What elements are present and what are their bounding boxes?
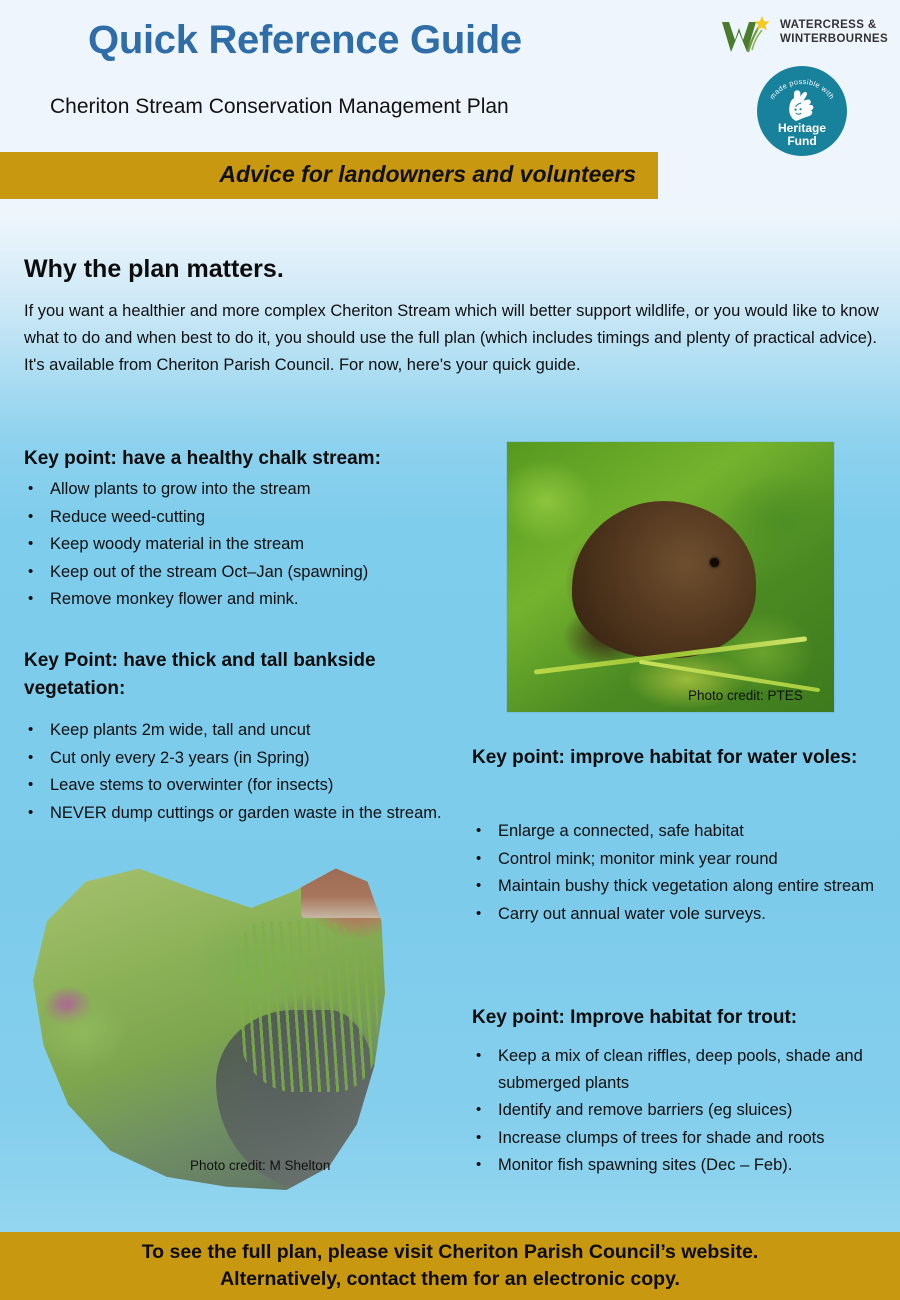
list-item: Remove monkey flower and mink. [24,586,474,613]
section-bullets-water-voles: Enlarge a connected, safe habitat Contro… [472,818,884,928]
section-bullets-trout: Keep a mix of clean riffles, deep pools,… [472,1043,884,1180]
section-heading-bankside-vegetation: Key Point: have thick and tall bankside … [24,647,444,703]
watercress-winterbournes-wordmark: WATERCRESS & WINTERBOURNES [780,18,888,46]
page-title: Quick Reference Guide [88,18,522,63]
section-bullets-healthy-chalk-stream: Allow plants to grow into the stream Red… [24,476,474,614]
wcw-line-2: WINTERBOURNES [780,32,888,46]
stream-photo [33,862,385,1190]
wcw-line-1: WATERCRESS & [780,18,888,32]
footer-line-1: To see the full plan, please visit Cheri… [142,1239,759,1266]
water-vole-eye [710,558,719,567]
page-footer: To see the full plan, please visit Cheri… [0,1232,900,1300]
heritage-fund-wordmark: Heritage Fund [757,122,847,148]
list-item: Maintain bushy thick vegetation along en… [472,873,884,900]
heritage-fund-line-2: Fund [757,135,847,148]
list-item: Keep out of the stream Oct–Jan (spawning… [24,559,474,586]
photo-credit-stream: Photo credit: M Shelton [190,1158,330,1173]
heritage-fund-logo: made possible with Heritage Fund [757,66,847,156]
list-item: NEVER dump cuttings or garden waste in t… [24,800,464,827]
page-subtitle: Cheriton Stream Conservation Management … [50,95,509,119]
section-heading-healthy-chalk-stream: Key point: have a healthy chalk stream: [24,445,464,473]
section-bullets-bankside-vegetation: Keep plants 2m wide, tall and uncut Cut … [24,717,464,827]
list-item: Identify and remove barriers (eg sluices… [472,1097,884,1124]
footer-line-2: Alternatively, contact them for an elect… [220,1266,680,1293]
crossed-fingers-hand-icon [786,88,818,122]
list-item: Increase clumps of trees for shade and r… [472,1125,884,1152]
list-item: Control mink; monitor mink year round [472,846,884,873]
water-vole-subject [572,501,755,658]
list-item: Keep woody material in the stream [24,531,474,558]
intro-heading: Why the plan matters. [24,255,284,284]
section-heading-water-voles: Key point: improve habitat for water vol… [472,744,872,772]
letter-w-flower-icon [718,12,778,58]
bankside-reeds [237,921,378,1092]
list-item: Leave stems to overwinter (for insects) [24,772,464,799]
list-item: Keep a mix of clean riffles, deep pools,… [472,1043,884,1096]
list-item: Enlarge a connected, safe habitat [472,818,884,845]
list-item: Reduce weed-cutting [24,504,474,531]
watercress-winterbournes-logo: WATERCRESS & WINTERBOURNES [718,12,890,60]
quick-reference-guide-page: Quick Reference Guide Cheriton Stream Co… [0,0,900,1300]
list-item: Carry out annual water vole surveys. [472,901,884,928]
water-vole-photo [507,442,834,712]
intro-paragraph: If you want a healthier and more complex… [24,298,880,379]
list-item: Keep plants 2m wide, tall and uncut [24,717,464,744]
photo-credit-water-vole: Photo credit: PTES [688,688,803,703]
background-house [301,865,385,917]
advice-banner: Advice for landowners and volunteers [0,152,658,199]
list-item: Cut only every 2-3 years (in Spring) [24,745,464,772]
list-item: Allow plants to grow into the stream [24,476,474,503]
list-item: Monitor fish spawning sites (Dec – Feb). [472,1152,884,1179]
page-header: Quick Reference Guide Cheriton Stream Co… [0,0,900,205]
advice-banner-text: Advice for landowners and volunteers [0,161,636,188]
section-heading-trout: Key point: Improve habitat for trout: [472,1004,872,1032]
